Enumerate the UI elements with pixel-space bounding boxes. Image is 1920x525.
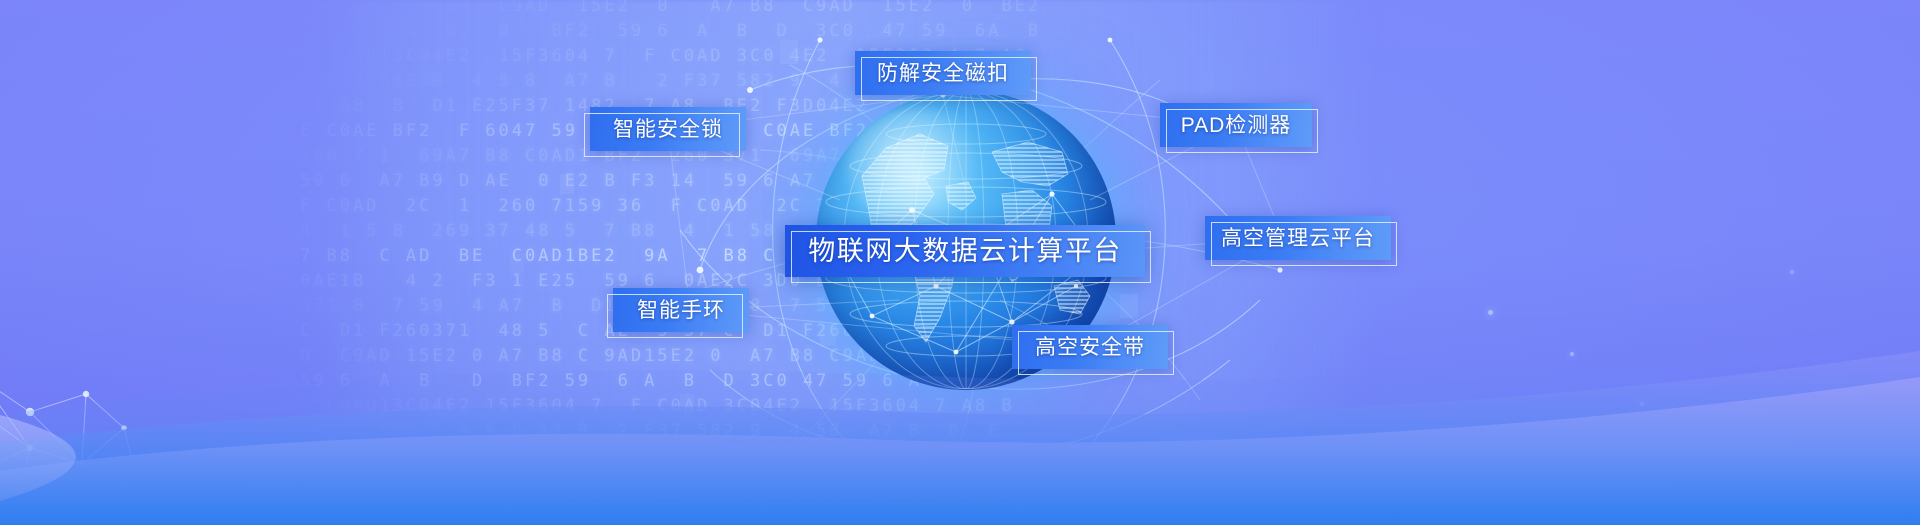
label-pad-detector[interactable]: PAD检测器	[1160, 103, 1312, 147]
label-smart-safety-lock[interactable]: 智能安全锁	[590, 107, 746, 151]
label-text: 高空管理云平台	[1221, 228, 1375, 249]
wave-shapes	[0, 265, 1920, 525]
hero-banner: A C0 4 7 B8 C9AD 15E2 0 A7 B8 C9AD 15E2 …	[0, 0, 1920, 525]
label-aerial-management-cloud[interactable]: 高空管理云平台	[1205, 216, 1391, 260]
label-text: 防解安全磁扣	[877, 63, 1009, 84]
label-text: PAD检测器	[1181, 115, 1292, 136]
label-text: 物联网大数据云计算平台	[808, 238, 1122, 265]
label-text: 智能安全锁	[613, 119, 723, 140]
label-anti-unlock-magnetic-buckle[interactable]: 防解安全磁扣	[855, 51, 1031, 95]
